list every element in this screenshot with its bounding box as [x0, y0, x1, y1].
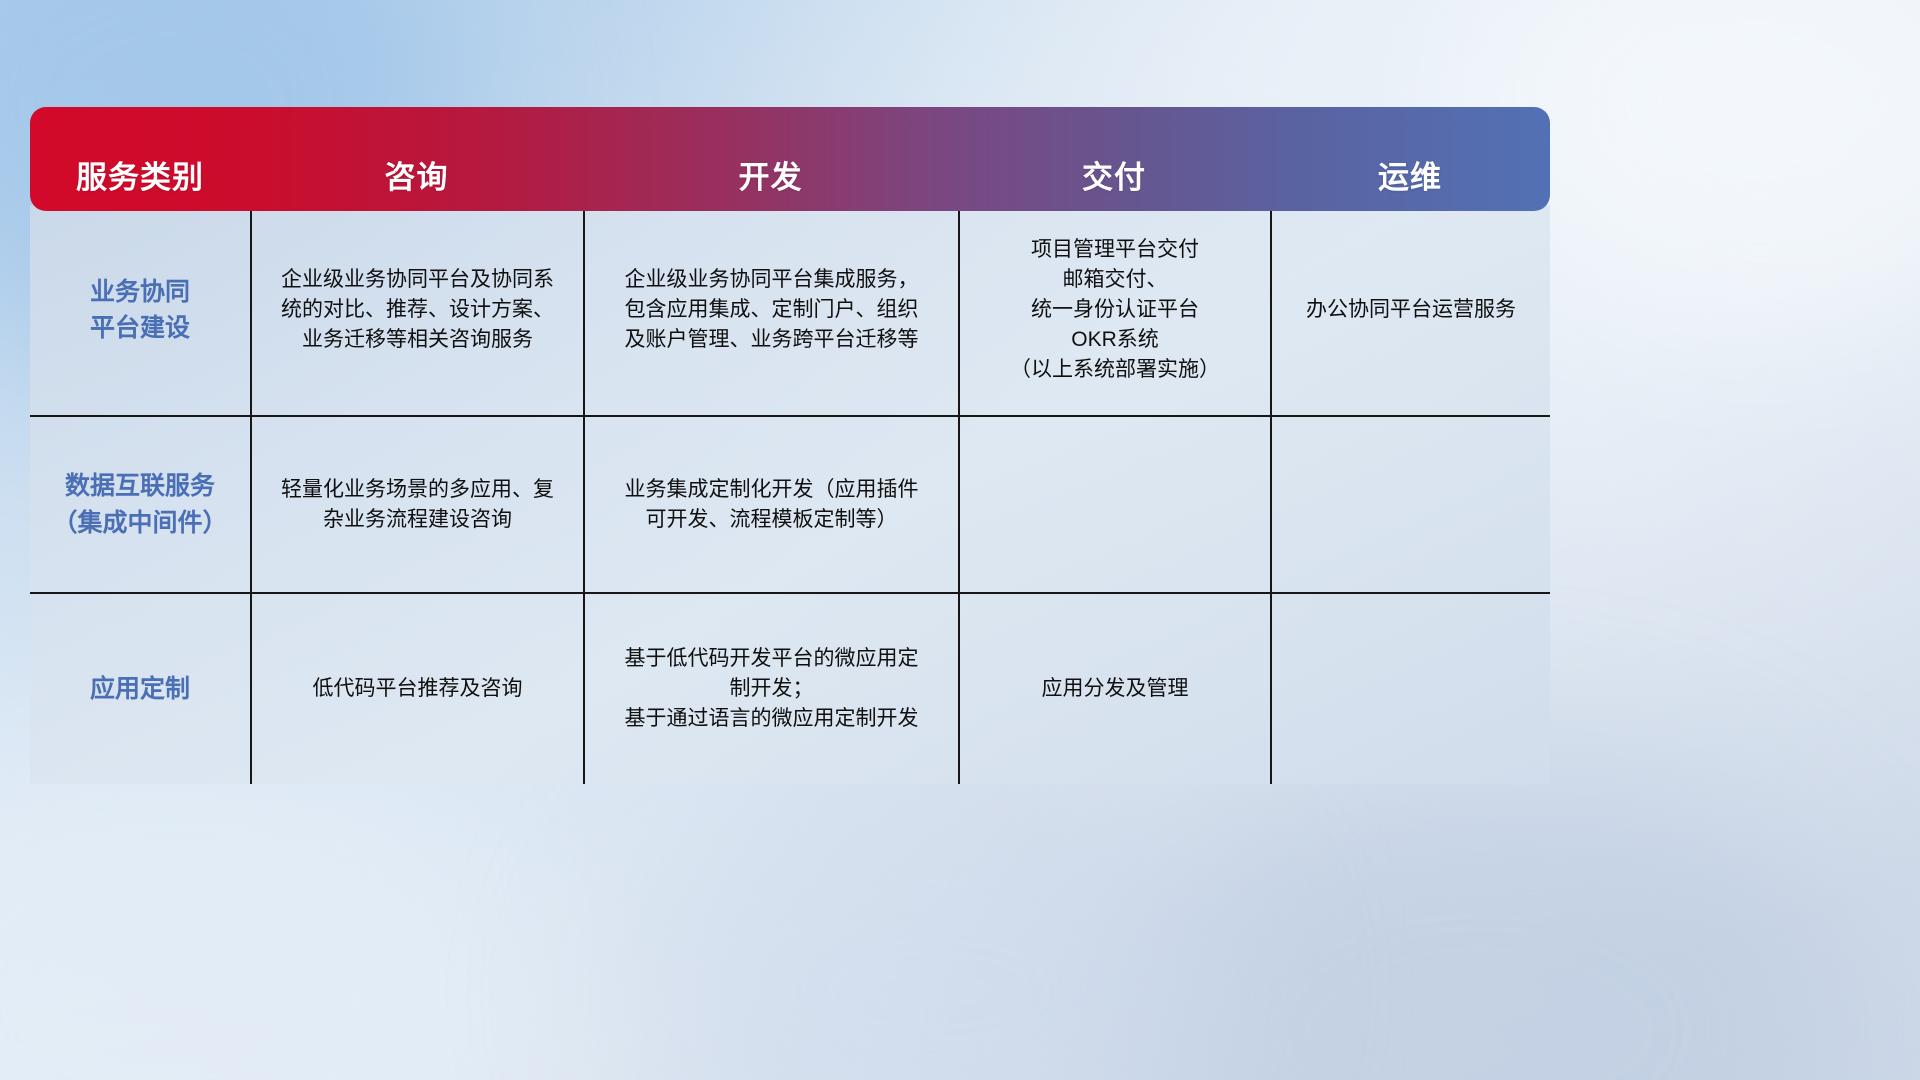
cell-row2-delivery: 应用分发及管理 — [958, 594, 1270, 784]
background-blob-bottom-right — [1100, 760, 1860, 1080]
cell-row1-operations — [1270, 417, 1550, 592]
table-header-row: 服务类别 咨询 开发 交付 运维 — [30, 107, 1550, 211]
cell-row1-delivery — [958, 417, 1270, 592]
service-matrix-table: 服务类别 咨询 开发 交付 运维 业务协同 平台建设 企业级业务协同平台及协同系… — [30, 107, 1550, 784]
cell-row1-development: 业务集成定制化开发（应用插件 可开发、流程模板定制等） — [583, 417, 958, 592]
table-row: 数据互联服务 （集成中间件） 轻量化业务场景的多应用、复 杂业务流程建设咨询 业… — [30, 415, 1550, 592]
slide-canvas: 服务类别 咨询 开发 交付 运维 业务协同 平台建设 企业级业务协同平台及协同系… — [0, 0, 1920, 1080]
cell-row0-delivery: 项目管理平台交付 邮箱交付、 统一身份认证平台 OKR系统 （以上系统部署实施） — [958, 205, 1270, 415]
cell-row2-development: 基于低代码开发平台的微应用定 制开发； 基于通过语言的微应用定制开发 — [583, 594, 958, 784]
cell-row2-consulting: 低代码平台推荐及咨询 — [250, 594, 583, 784]
table-row: 业务协同 平台建设 企业级业务协同平台及协同系 统的对比、推荐、设计方案、 业务… — [30, 205, 1550, 415]
row-label-data-interconnection: 数据互联服务 （集成中间件） — [30, 417, 250, 592]
column-header-delivery: 交付 — [958, 107, 1270, 211]
cell-row0-development: 企业级业务协同平台集成服务， 包含应用集成、定制门户、组织 及账户管理、业务跨平… — [583, 205, 958, 415]
column-header-consulting: 咨询 — [250, 107, 583, 211]
column-header-category: 服务类别 — [30, 107, 250, 211]
table-body: 业务协同 平台建设 企业级业务协同平台及协同系 统的对比、推荐、设计方案、 业务… — [30, 205, 1550, 784]
table-row: 应用定制 低代码平台推荐及咨询 基于低代码开发平台的微应用定 制开发； 基于通过… — [30, 592, 1550, 784]
background-blob-bottom-center — [620, 780, 1240, 1080]
column-header-operations: 运维 — [1270, 107, 1550, 211]
row-label-business-collaboration: 业务协同 平台建设 — [30, 205, 250, 415]
cell-row1-consulting: 轻量化业务场景的多应用、复 杂业务流程建设咨询 — [250, 417, 583, 592]
column-header-development: 开发 — [583, 107, 958, 211]
cell-row2-operations — [1270, 594, 1550, 784]
cell-row0-consulting: 企业级业务协同平台及协同系 统的对比、推荐、设计方案、 业务迁移等相关咨询服务 — [250, 205, 583, 415]
cell-row0-operations: 办公协同平台运营服务 — [1270, 205, 1550, 415]
row-label-application-customization: 应用定制 — [30, 594, 250, 784]
